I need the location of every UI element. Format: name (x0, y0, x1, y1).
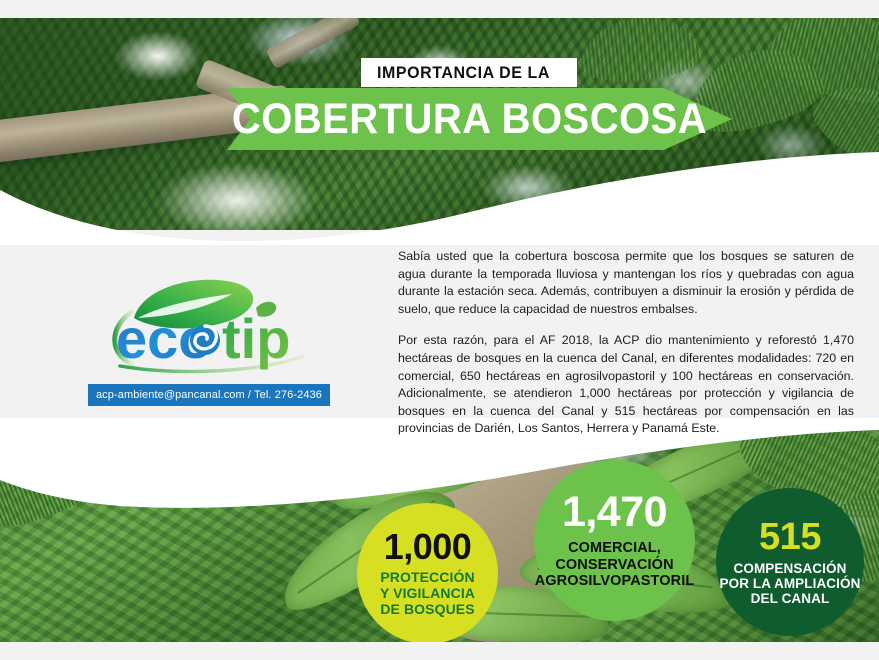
stat-circle-compensacion[interactable]: 515 COMPENSACIÓN POR LA AMPLIACIÓN DEL C… (716, 488, 864, 636)
stat-3-caption: COMPENSACIÓN POR LA AMPLIACIÓN DEL CANAL (720, 561, 861, 607)
stat-1-value: 1,000 (384, 529, 472, 565)
stat-2-caption: COMERCIAL, CONSERVACIÓN AGROSILVOPASTORI… (535, 540, 695, 589)
paragraph-2: Por esta razón, para el AF 2018, la ACP … (398, 332, 854, 438)
logo-word-tip: tip (222, 307, 290, 370)
infographic-poster: IMPORTANCIA DE LA COBERTURA BOSCOSA (0, 0, 879, 660)
stat-circle-proteccion[interactable]: 1,000 PROTECCIÓN Y VIGILANCIA DE BOSQUES (357, 503, 498, 644)
contact-badge[interactable]: acp-ambiente@pancanal.com / Tel. 276-243… (88, 384, 330, 406)
title-ribbon: COBERTURA BOSCOSA (227, 88, 732, 150)
contact-badge-text: acp-ambiente@pancanal.com / Tel. 276-243… (96, 389, 322, 401)
page-margin-top (0, 0, 879, 18)
stat-3-value: 515 (759, 518, 821, 556)
paragraph-1: Sabía usted que la cobertura boscosa per… (398, 248, 854, 318)
page-title: COBERTURA BOSCOSA (232, 98, 707, 141)
eyebrow-label: IMPORTANCIA DE LA (361, 58, 577, 87)
eyebrow-text: IMPORTANCIA DE LA (377, 63, 550, 83)
ribbon-text-wrap: COBERTURA BOSCOSA (227, 88, 732, 150)
swirl-icon (190, 325, 220, 355)
page-margin-bottom (0, 642, 879, 660)
body-copy: Sabía usted que la cobertura boscosa per… (398, 248, 854, 438)
ecotip-logo: eco tip (88, 272, 338, 377)
logo-mark: eco tip (98, 272, 328, 377)
stat-2-value: 1,470 (562, 491, 667, 534)
ecotip-logo-svg: eco tip (98, 272, 328, 377)
stat-circle-comercial[interactable]: 1,470 COMERCIAL, CONSERVACIÓN AGROSILVOP… (534, 460, 695, 621)
stat-1-caption: PROTECCIÓN Y VIGILANCIA DE BOSQUES (380, 570, 475, 617)
